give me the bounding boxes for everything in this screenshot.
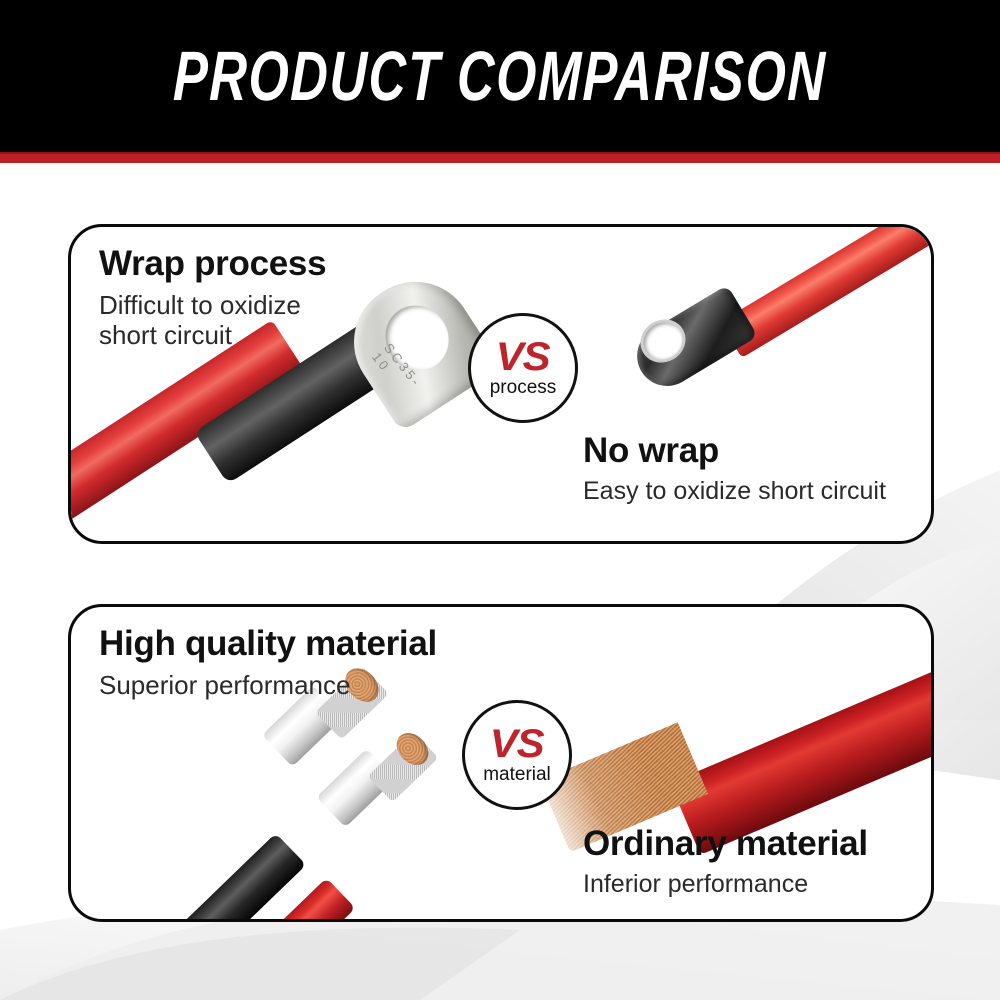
red-cable-jacket	[71, 320, 304, 541]
high-quality-title: High quality material	[99, 625, 437, 664]
vs-label-process: VS	[496, 339, 550, 375]
high-quality-text-block: High quality material Superior performan…	[99, 625, 437, 700]
vs-label-material: VS	[490, 726, 544, 762]
copper-core-face-2	[390, 727, 434, 772]
vs-badge-process[interactable]: VS process	[468, 313, 578, 423]
vs-category-process: process	[490, 378, 557, 397]
lug-stamp-text: SC35-10	[369, 340, 425, 399]
header-red-stripe	[0, 152, 1000, 163]
header-band: PRODUCT COMPARISON	[0, 0, 1000, 152]
wrap-process-title: Wrap process	[99, 245, 326, 284]
no-wrap-subtitle: Easy to oxidize short circuit	[583, 476, 886, 506]
high-quality-subtitle: Superior performance	[99, 670, 437, 701]
wrap-process-subtitle: Difficult to oxidize short circuit	[99, 290, 326, 351]
wrap-process-text-block: Wrap process Difficult to oxidize short …	[99, 245, 326, 351]
ordinary-material-title: Ordinary material	[583, 825, 868, 864]
ordinary-material-text-block: Ordinary material Inferior performance	[583, 825, 868, 899]
no-wrap-title: No wrap	[583, 432, 886, 471]
red-cable-jacket-right	[720, 227, 931, 358]
black-cable-jacket	[71, 833, 306, 919]
white-insulation-layer-2	[316, 749, 396, 828]
lug-terminal-hole	[373, 293, 461, 382]
bare-lug-terminal-body	[626, 285, 758, 397]
ordinary-material-subtitle: Inferior performance	[583, 869, 868, 899]
tinned-strand-bundle-2	[367, 732, 438, 802]
bare-lug-terminal-hole	[637, 315, 690, 366]
no-wrap-text-block: No wrap Easy to oxidize short circuit	[583, 432, 886, 506]
red-cable-jacket	[103, 878, 355, 919]
vs-category-material: material	[483, 765, 551, 784]
page-title: PRODUCT COMPARISON	[172, 41, 827, 111]
product-comparison-page: PRODUCT COMPARISON SC35-10 Wrap process	[0, 0, 1000, 1000]
vs-badge-material[interactable]: VS material	[462, 700, 572, 810]
